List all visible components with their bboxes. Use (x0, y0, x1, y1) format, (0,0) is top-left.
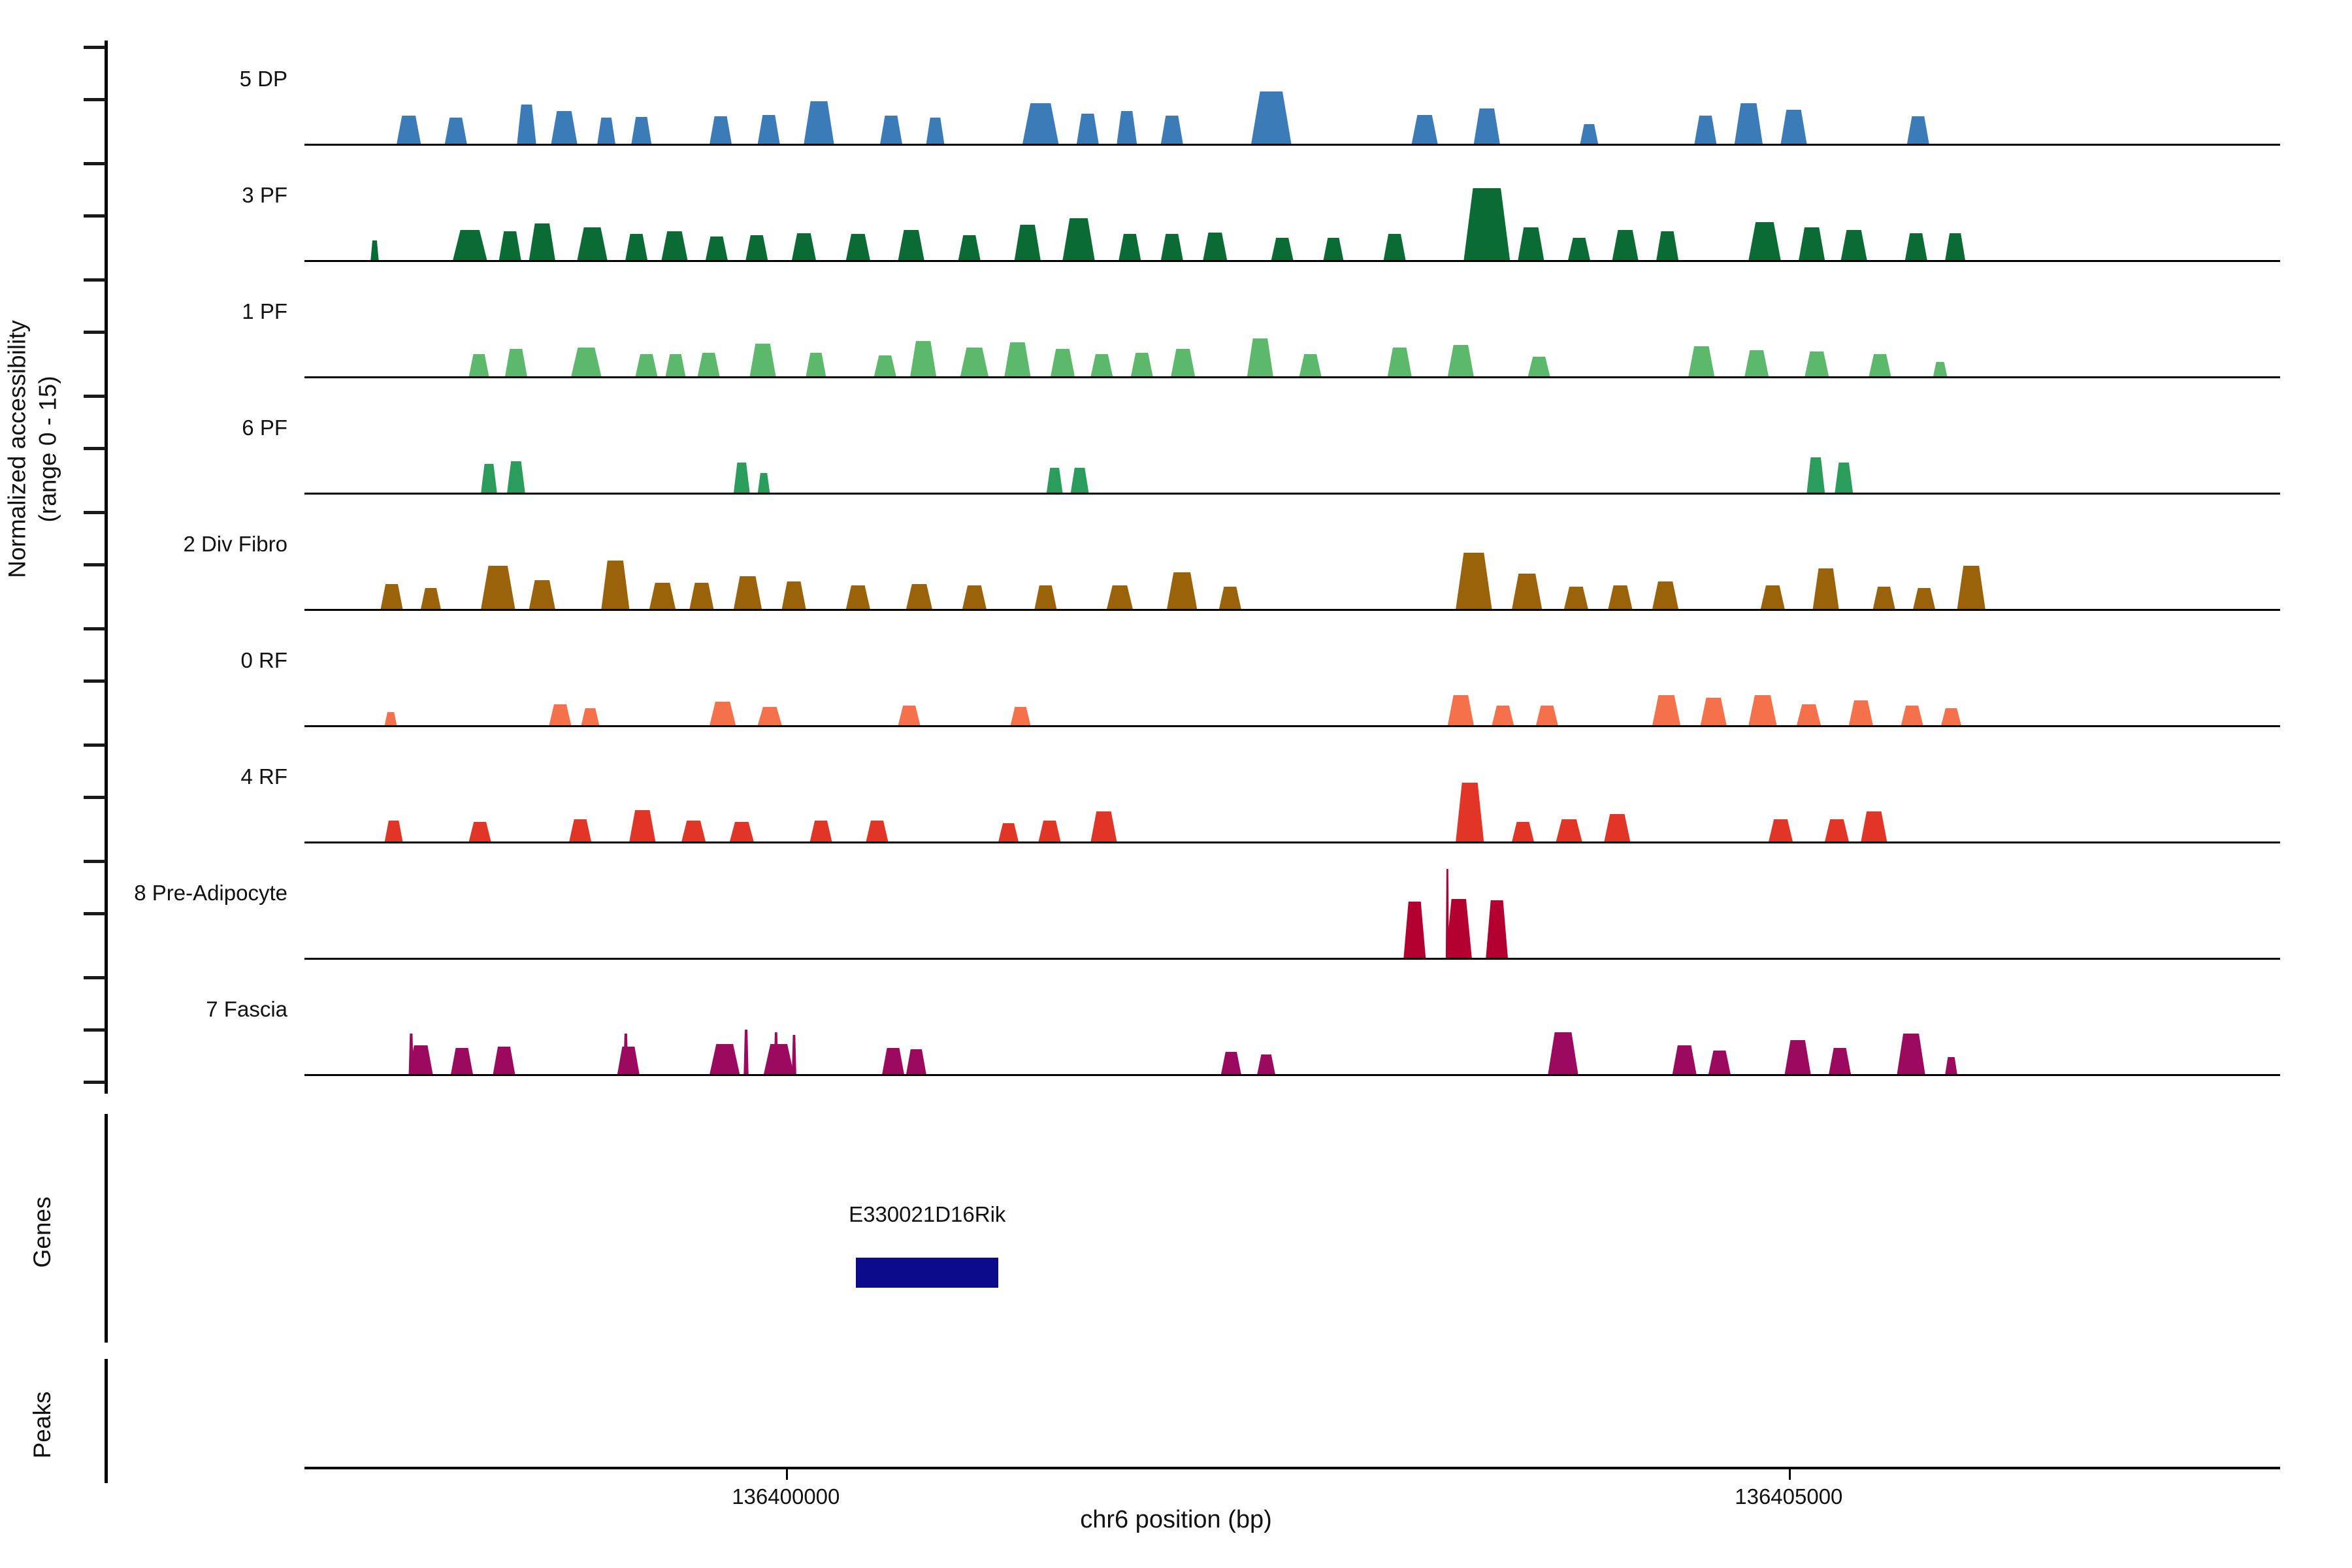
y-axis-tick (84, 563, 106, 566)
track-baseline (304, 260, 2280, 262)
signal-peak (1564, 587, 1588, 609)
signal-peak (581, 708, 600, 725)
signal-peak (998, 823, 1019, 841)
signal-peak (1015, 225, 1041, 260)
signal-peak (1913, 588, 1935, 609)
signal-peak (782, 581, 806, 609)
x-axis-title: chr6 position (bp) (0, 1506, 2352, 1534)
signal-peak (880, 116, 902, 144)
signal-peak (481, 566, 515, 609)
signal-peak (1171, 349, 1195, 376)
signal-peak (1512, 574, 1542, 609)
track-label-2-div-fibro: 2 Div Fibro (118, 532, 287, 557)
signal-peak (617, 1047, 640, 1074)
y-axis-tick (84, 46, 106, 49)
signal-peak (1219, 587, 1241, 609)
track-signal (304, 743, 2280, 841)
signal-peak (1708, 1051, 1731, 1074)
track-signal (304, 395, 2280, 493)
signal-peak (507, 461, 525, 493)
track-2-div-fibro (304, 511, 2280, 609)
signal-peak (906, 584, 932, 609)
signal-peak (1131, 353, 1153, 376)
signal-peak (1271, 238, 1294, 260)
y-axis-tick (84, 447, 106, 450)
signal-peak (1492, 706, 1514, 725)
track-baseline (304, 493, 2280, 495)
signal-peak (370, 240, 378, 260)
signal-peak (960, 348, 988, 376)
track-1-pf (304, 278, 2280, 376)
signal-peak (792, 1035, 796, 1074)
track-label-0-rf: 0 RF (118, 648, 287, 673)
signal-peak (866, 821, 889, 841)
signal-peak (874, 355, 896, 376)
track-label-6-pf: 6 PF (118, 416, 287, 440)
signal-peak (1388, 348, 1412, 376)
signal-peak (662, 231, 688, 260)
signal-peak (1324, 238, 1344, 260)
signal-peak (1688, 346, 1714, 376)
signal-peak (1486, 900, 1508, 958)
signal-peak (1841, 230, 1867, 260)
track-signal (304, 976, 2280, 1074)
signal-peak (792, 233, 816, 260)
signal-peak (846, 234, 870, 260)
signal-peak (1446, 869, 1449, 958)
signal-peak (910, 341, 936, 376)
signal-peak (666, 354, 686, 376)
track-3-pf (304, 162, 2280, 260)
signal-peak (1257, 1054, 1275, 1074)
track-label-8-pre-adipocyte: 8 Pre-Adipocyte (118, 881, 287, 906)
signal-peak (1813, 568, 1839, 609)
y-axis-tick (84, 976, 106, 979)
signal-peak (493, 1047, 515, 1074)
signal-peak (846, 585, 870, 609)
y-axis-tick (84, 743, 106, 747)
track-signal (304, 627, 2280, 725)
peaks-section-label: Peaks (29, 1340, 56, 1510)
signal-peak (958, 235, 981, 260)
signal-peak (758, 473, 770, 493)
signal-peak (1761, 585, 1785, 609)
signal-peak (1941, 708, 1961, 725)
signal-peak (623, 1034, 628, 1074)
signal-peak (1568, 238, 1590, 260)
x-axis-line (304, 1467, 2280, 1469)
track-baseline (304, 725, 2280, 727)
signal-peak (1799, 227, 1825, 260)
signal-peak (1161, 116, 1183, 144)
signal-peak (1448, 345, 1474, 376)
signal-peak (1107, 585, 1133, 609)
signal-peak (1403, 902, 1426, 958)
y-axis-label: Normalized accessibility (range 0 - 15) (2, 220, 64, 678)
signal-peak (1203, 233, 1227, 260)
y-axis-tick (84, 162, 106, 165)
signal-peak (381, 584, 403, 609)
y-axis-tick (84, 860, 106, 863)
signal-peak (385, 821, 403, 841)
signal-peak (629, 810, 655, 841)
track-8-pre-adipocyte (304, 860, 2280, 958)
signal-peak (1735, 103, 1763, 144)
signal-peak (734, 576, 762, 609)
signal-peak (1384, 234, 1406, 260)
signal-peak (1556, 819, 1582, 841)
signal-peak (625, 234, 647, 260)
signal-peak (1945, 233, 1965, 260)
y-axis-tick (84, 679, 106, 683)
track-label-7-fascia: 7 Fascia (118, 997, 287, 1022)
signal-peak (1897, 1034, 1925, 1074)
signal-peak (1448, 695, 1474, 725)
signal-peak (1907, 116, 1929, 144)
track-label-5-dp: 5 DP (118, 67, 287, 91)
genome-browser-figure: Normalized accessibility (range 0 - 15) … (0, 0, 2352, 1568)
signal-peak (730, 822, 754, 841)
signal-peak (1604, 814, 1630, 841)
x-axis-tick (786, 1469, 788, 1480)
signal-peak (1869, 354, 1891, 376)
y-axis-tick (84, 331, 106, 334)
x-axis-tick (1789, 1469, 1791, 1480)
signal-peak (1656, 231, 1678, 260)
signal-peak (1011, 707, 1031, 725)
signal-peak (1446, 899, 1472, 958)
signal-peak (631, 117, 651, 144)
signal-peak (1474, 108, 1500, 144)
signal-peak (1769, 819, 1793, 841)
signal-peak (1701, 698, 1727, 725)
signal-peak (451, 1048, 473, 1074)
signal-peak (1905, 233, 1927, 260)
signal-peak (1004, 342, 1030, 376)
y-axis-tick (84, 1028, 106, 1032)
signal-peak (1091, 811, 1117, 841)
signal-peak (1022, 103, 1058, 144)
signal-peak (1077, 114, 1099, 144)
track-label-3-pf: 3 PF (118, 183, 287, 208)
signal-peak (898, 230, 924, 260)
signal-peak (689, 583, 713, 609)
peaks-section-spine (105, 1359, 108, 1483)
track-baseline (304, 144, 2280, 146)
gene-body[interactable] (856, 1258, 998, 1288)
track-baseline (304, 1074, 2280, 1076)
signal-peak (962, 585, 987, 609)
signal-peak (1933, 362, 1948, 376)
signal-peak (806, 353, 826, 376)
signal-peak (734, 463, 750, 493)
signal-peak (421, 588, 441, 609)
signal-peak (1161, 234, 1183, 260)
y-axis-tick (84, 1081, 106, 1084)
signal-peak (1835, 463, 1853, 493)
signal-peak (1548, 1032, 1578, 1074)
signal-peak (764, 1044, 794, 1074)
signal-peak (1051, 349, 1075, 376)
signal-peak (1063, 218, 1095, 260)
track-label-1-pf: 1 PF (118, 299, 287, 324)
track-signal (304, 162, 2280, 260)
signal-peak (1528, 357, 1550, 376)
signal-peak (469, 822, 491, 841)
signal-peak (469, 354, 489, 376)
signal-peak (1609, 585, 1633, 609)
signal-peak (1412, 115, 1438, 144)
track-baseline (304, 841, 2280, 843)
signal-peak (882, 1048, 904, 1074)
signal-peak (1807, 457, 1825, 493)
signal-peak (758, 115, 780, 144)
signal-peak (597, 118, 615, 144)
signal-peak (1797, 704, 1821, 725)
y-axis-tick (84, 214, 106, 218)
y-axis-tick (84, 912, 106, 915)
signal-peak (710, 116, 732, 144)
signal-peak (1035, 585, 1057, 609)
signal-peak (926, 118, 945, 144)
track-baseline (304, 376, 2280, 378)
signal-peak (750, 344, 776, 376)
signal-peak (481, 464, 497, 493)
signal-peak (1071, 468, 1089, 493)
signal-peak (1748, 695, 1776, 725)
y-axis-label-line2: (range 0 - 15) (33, 220, 63, 678)
signal-peak (758, 707, 782, 725)
y-axis-tick (84, 627, 106, 630)
signal-peak (1781, 110, 1807, 144)
signal-peak (745, 235, 768, 260)
signal-peak (1167, 572, 1197, 609)
signal-peak (649, 583, 676, 609)
y-axis-tick (84, 796, 106, 799)
signal-peak (681, 821, 706, 841)
signal-peak (898, 706, 921, 725)
signal-peak (385, 712, 397, 725)
signal-peak (453, 230, 487, 260)
track-4-rf (304, 743, 2280, 841)
signal-peak (578, 227, 608, 260)
signal-peak (1580, 124, 1599, 144)
signal-peak (1464, 188, 1511, 260)
track-signal (304, 511, 2280, 609)
signal-peak (1901, 706, 1923, 725)
track-5-dp (304, 46, 2280, 144)
signal-peak (706, 237, 728, 260)
y-axis-tick (84, 511, 106, 514)
signal-peak (1652, 695, 1680, 725)
signal-peak (1849, 700, 1873, 725)
track-baseline (304, 609, 2280, 611)
signal-peak (710, 1044, 740, 1074)
signal-peak (499, 231, 521, 260)
track-signal (304, 46, 2280, 144)
signal-peak (1117, 111, 1137, 144)
y-axis-label-line1: Normalized accessibility (2, 220, 33, 678)
signal-peak (571, 348, 601, 376)
signal-peak (1652, 581, 1678, 609)
signal-peak (529, 580, 555, 609)
signal-peak (1536, 706, 1558, 725)
signal-peak (1785, 1040, 1811, 1074)
signal-peak (529, 223, 555, 260)
signal-peak (1805, 351, 1829, 376)
signal-peak (698, 353, 720, 376)
signal-peak (1829, 1048, 1851, 1074)
signal-peak (810, 821, 832, 841)
signal-peak (1518, 227, 1544, 260)
signal-peak (517, 105, 536, 144)
y-axis-tick (84, 278, 106, 282)
genes-section-label: Genes (29, 1134, 56, 1330)
track-7-fascia (304, 976, 2280, 1074)
signal-peak (601, 561, 629, 609)
signal-peak (505, 349, 527, 376)
signal-peak (397, 116, 421, 144)
signal-peak (1221, 1052, 1241, 1074)
signal-peak (1673, 1045, 1697, 1074)
signal-peak (1744, 350, 1769, 376)
signal-peak (445, 118, 467, 144)
track-baseline (304, 958, 2280, 960)
signal-peak (551, 111, 578, 144)
track-0-rf (304, 627, 2280, 725)
signal-peak (1251, 91, 1291, 144)
signal-peak (1748, 222, 1780, 260)
signal-peak (1119, 234, 1141, 260)
signal-peak (1612, 230, 1639, 260)
y-axis-tick (84, 395, 106, 398)
signal-peak (743, 1030, 748, 1074)
signal-peak (1861, 811, 1887, 841)
signal-peak (549, 704, 572, 725)
signal-peak (1091, 354, 1113, 376)
y-axis-tick (84, 98, 106, 101)
gene-name-label: E330021D16Rik (731, 1202, 1123, 1227)
signal-peak (569, 819, 591, 841)
signal-peak (1299, 354, 1322, 376)
signal-peak (774, 1032, 778, 1074)
signal-peak (1512, 822, 1534, 841)
track-signal (304, 278, 2280, 376)
signal-peak (1945, 1057, 1957, 1074)
genes-section-spine (105, 1114, 108, 1343)
signal-peak (409, 1034, 414, 1074)
signal-peak (804, 101, 834, 144)
signal-peak (1456, 783, 1484, 841)
track-6-pf (304, 395, 2280, 493)
signal-peak (1039, 821, 1061, 841)
signal-peak (710, 702, 736, 725)
signal-peak (1047, 468, 1063, 493)
signal-peak (1825, 819, 1849, 841)
signal-peak (1957, 566, 1985, 609)
track-signal (304, 860, 2280, 958)
signal-peak (1247, 338, 1273, 376)
signal-peak (636, 354, 658, 376)
track-axis-spine (105, 41, 108, 1094)
track-label-4-rf: 4 RF (118, 764, 287, 789)
signal-peak (906, 1049, 926, 1074)
signal-peak (1873, 587, 1895, 609)
signal-peak (1456, 553, 1492, 609)
signal-peak (1695, 116, 1717, 144)
